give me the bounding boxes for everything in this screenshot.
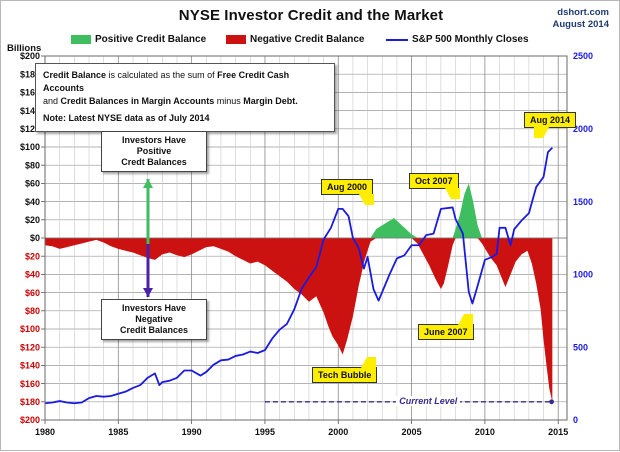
attribution-date: August 2014: [553, 19, 610, 31]
definition-note-box: Credit Balance is calculated as the sum …: [35, 63, 335, 132]
x-axis-tick: 1985: [108, 427, 128, 437]
y-axis-left-tick: $120: [20, 342, 40, 352]
callout-negative-balances: Investors Have Negative Credit Balances: [101, 299, 207, 340]
legend-swatch-negative: [226, 35, 246, 44]
y-axis-left-tick: $200: [20, 51, 40, 61]
legend-item-positive: Positive Credit Balance: [71, 34, 206, 45]
y-axis-right-tick: 1000: [573, 270, 593, 280]
x-axis-tick: 1995: [255, 427, 275, 437]
y-axis-left-tick: $20: [25, 215, 40, 225]
x-axis-tick: 2000: [328, 427, 348, 437]
callout-negative-line2: Negative: [108, 314, 200, 325]
callout-negative-line3: Credit Balances: [108, 325, 200, 336]
y-axis-left-tick: $100: [20, 142, 40, 152]
x-axis-tick: 2015: [548, 427, 568, 437]
y-axis-left-tick: $20: [25, 251, 40, 261]
attribution-site: dshort.com: [553, 7, 610, 19]
note-line-3: Note: Latest NYSE data as of July 2014: [43, 112, 327, 125]
attribution: dshort.com August 2014: [553, 7, 610, 31]
y-axis-left-tick: $60: [25, 288, 40, 298]
x-axis-tick: 1990: [182, 427, 202, 437]
callout-oct-2007: Oct 2007: [409, 173, 459, 189]
y-axis-right-tick: 2500: [573, 51, 593, 61]
callout-aug-2000: Aug 2000: [321, 179, 373, 195]
note-term-credit-balance: Credit Balance: [43, 70, 106, 80]
note-line-2: and Credit Balances in Margin Accounts m…: [43, 95, 327, 108]
legend-swatch-positive: [71, 35, 91, 44]
y-axis-right-tick: 500: [573, 342, 588, 352]
y-axis-left-tick: $40: [25, 270, 40, 280]
legend-label-positive: Positive Credit Balance: [95, 34, 206, 45]
callout-tail: [534, 127, 549, 138]
callout-tail: [359, 194, 374, 205]
y-axis-right-tick: 1500: [573, 197, 593, 207]
legend-item-negative: Negative Credit Balance: [226, 34, 365, 45]
legend-label-negative: Negative Credit Balance: [250, 34, 365, 45]
legend-item-sp500: S&P 500 Monthly Closes: [386, 34, 529, 45]
y-axis-left-tick: $100: [20, 324, 40, 334]
y-axis-left-tick: $160: [20, 379, 40, 389]
y-axis-left-tick: $80: [25, 306, 40, 316]
chart-legend: Positive Credit Balance Negative Credit …: [71, 34, 571, 48]
x-axis-tick: 2010: [475, 427, 495, 437]
y-axis-left-tick: $0: [30, 233, 40, 243]
legend-line-sp500: [386, 39, 408, 41]
y-axis-left-tick: $180: [20, 397, 40, 407]
callout-tech-bubble: Tech Bubble: [312, 367, 377, 383]
callout-positive-balances: Investors Have Positive Credt Balances: [101, 131, 207, 172]
callout-tail: [361, 357, 376, 368]
callout-negative-line1: Investors Have: [108, 303, 200, 314]
y-axis-left-tick: $140: [20, 361, 40, 371]
chart-container: NYSE Investor Credit and the Market dsho…: [0, 0, 620, 451]
y-axis-right-tick: 0: [573, 415, 578, 425]
page-title: NYSE Investor Credit and the Market: [1, 7, 620, 24]
y-axis-left-tick: $40: [25, 197, 40, 207]
legend-label-sp500: S&P 500 Monthly Closes: [412, 34, 529, 45]
callout-positive-line2: Positive: [108, 146, 200, 157]
y-axis-left-tick: $60: [25, 179, 40, 189]
callout-positive-line1: Investors Have: [108, 135, 200, 146]
callout-positive-line3: Credt Balances: [108, 157, 200, 168]
callout-june-2007: June 2007: [418, 324, 474, 340]
x-axis-tick: 2005: [402, 427, 422, 437]
note-line-1: Credit Balance is calculated as the sum …: [43, 69, 327, 95]
callout-tail: [445, 188, 460, 199]
y-axis-left-tick: $80: [25, 160, 40, 170]
callout-tail: [458, 314, 473, 325]
callout-aug-2014: Aug 2014: [524, 112, 576, 128]
x-axis-tick: 1980: [35, 427, 55, 437]
current-level-label: Current Level: [396, 396, 460, 406]
y-axis-left-tick: $200: [20, 415, 40, 425]
